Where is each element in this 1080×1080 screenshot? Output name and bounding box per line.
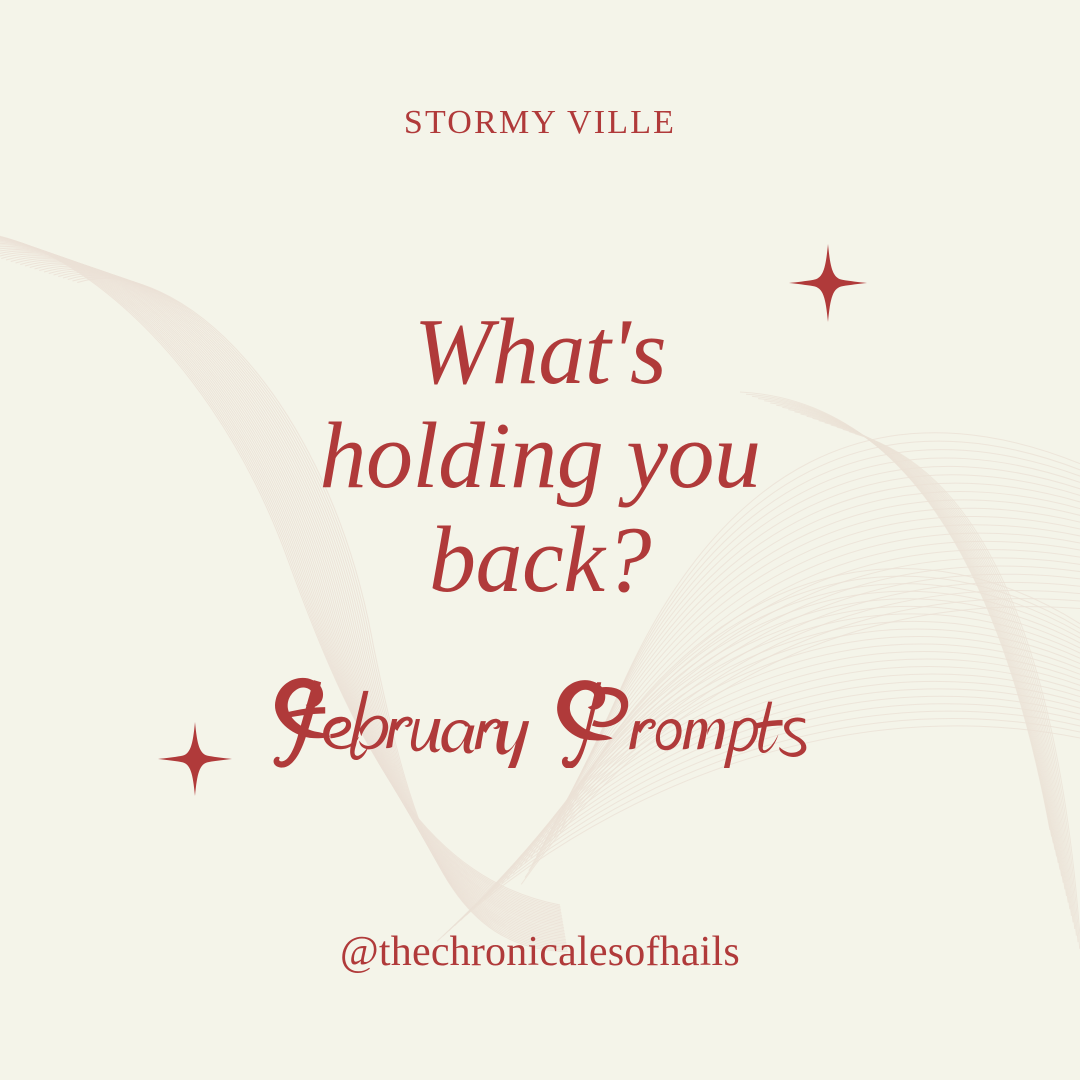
social-handle: @thechronicalesofhails [0,928,1080,976]
script-subtitle-artwork: February Prompts [255,648,825,768]
poster-canvas: STORMY VILLE What's holding you back? Fe… [0,0,1080,1080]
script-subtitle: February Prompts [0,648,1080,768]
headline-line-3: back? [0,508,1080,612]
headline-line-1: What's [0,300,1080,404]
headline-line-2: holding you [0,404,1080,508]
brand-title: STORMY VILLE [0,106,1080,140]
headline: What's holding you back? [0,300,1080,612]
